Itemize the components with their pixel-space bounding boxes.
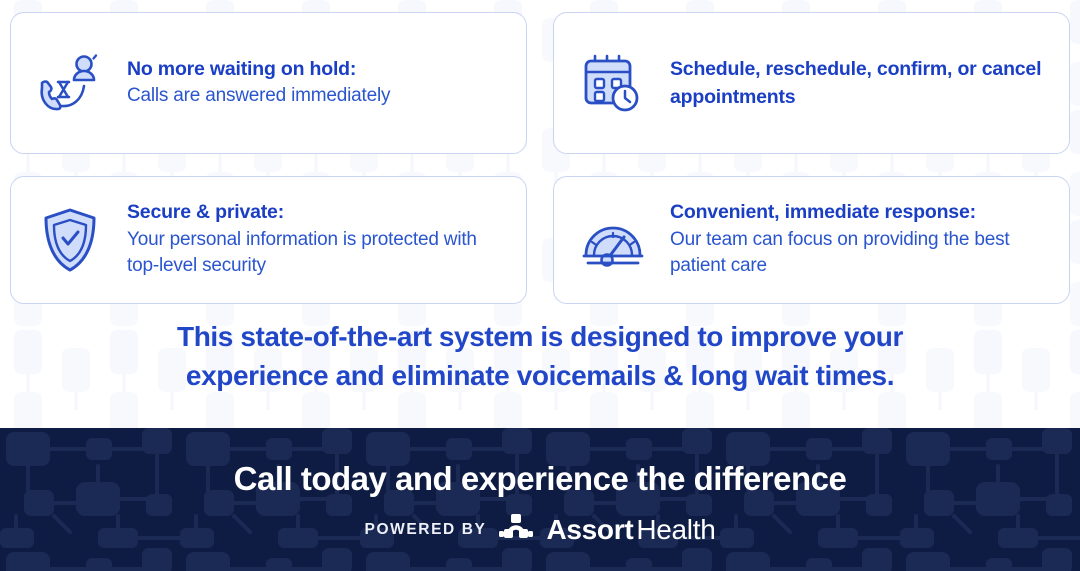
feature-card-title: Secure & private: (127, 200, 504, 226)
brand-lockup: POWERED BY AssortHealth (365, 514, 716, 546)
feature-card-title: No more waiting on hold: (127, 57, 504, 83)
feature-card-immediate-response[interactable]: Convenient, immediate response: Our team… (553, 176, 1070, 304)
calendar-clock-icon (576, 52, 650, 114)
feature-card-secure-private[interactable]: Secure & private: Your personal informat… (10, 176, 527, 304)
cta-footer: Call today and experience the difference… (0, 428, 1080, 571)
feature-card-text: Convenient, immediate response: Our team… (670, 200, 1047, 279)
feature-card-body: Calls are answered immediately (127, 83, 504, 109)
feature-card-text: Secure & private: Your personal informat… (127, 200, 504, 279)
feature-card-title: Convenient, immediate response: (670, 200, 1047, 226)
feature-card-text: Schedule, reschedule, confirm, or cancel… (670, 55, 1047, 112)
shield-check-icon (33, 207, 107, 273)
feature-card-title: Schedule, reschedule, confirm, or cancel… (670, 55, 1047, 112)
feature-card-scheduling[interactable]: Schedule, reschedule, confirm, or cancel… (553, 12, 1070, 154)
tagline-line-2: experience and eliminate voicemails & lo… (70, 357, 1010, 396)
speedometer-gauge-icon (576, 211, 650, 269)
brand-name: AssortHealth (546, 514, 715, 546)
feature-card-no-hold[interactable]: No more waiting on hold: Calls are answe… (10, 12, 527, 154)
tagline: This state-of-the-art system is designed… (0, 304, 1080, 395)
phone-person-hold-icon (33, 52, 107, 114)
powered-by-label: POWERED BY (365, 521, 487, 539)
feature-cards-grid: No more waiting on hold: Calls are answe… (0, 0, 1080, 304)
brand-name-secondary: Health (636, 514, 715, 545)
feature-card-body: Your personal information is protected w… (127, 227, 504, 279)
promo-banner: No more waiting on hold: Calls are answe… (0, 0, 1080, 571)
circuit-background-pattern (0, 428, 1080, 571)
feature-card-body: Our team can focus on providing the best… (670, 227, 1047, 279)
features-section: No more waiting on hold: Calls are answe… (0, 0, 1080, 428)
feature-card-text: No more waiting on hold: Calls are answe… (127, 57, 504, 110)
cta-headline: Call today and experience the difference (234, 460, 847, 498)
brand-name-primary: Assort (546, 514, 633, 545)
assort-node-graph-logo-icon (499, 514, 533, 546)
tagline-line-1: This state-of-the-art system is designed… (70, 318, 1010, 357)
